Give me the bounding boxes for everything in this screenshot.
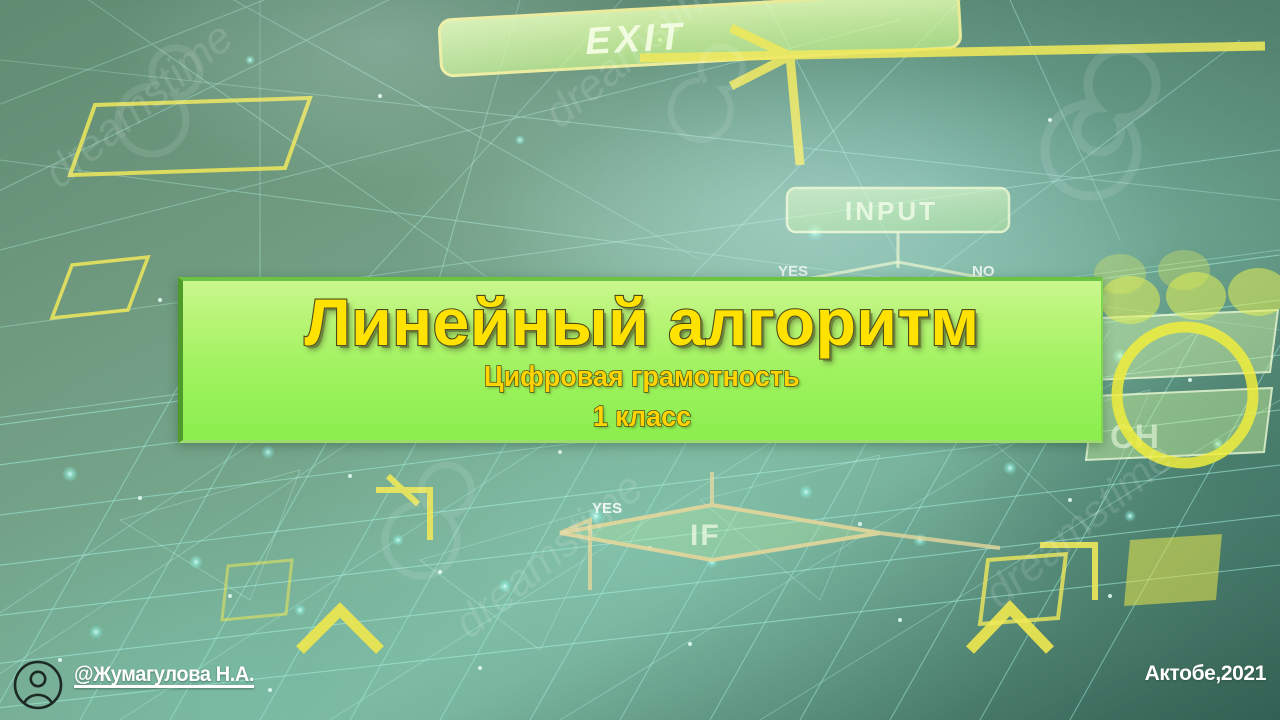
- grade-label: 1 класс: [593, 400, 691, 434]
- page-title: Линейный алгоритм: [304, 291, 979, 354]
- user-avatar-icon: [12, 659, 64, 711]
- author-credit[interactable]: @Жумагулова Н.А.: [74, 663, 254, 687]
- subject-subtitle: Цифровая грамотность: [484, 360, 800, 394]
- title-band: Линейный алгоритм Цифровая грамотность 1…: [178, 277, 1103, 443]
- place-year-label: Актобе,2021: [1145, 662, 1266, 686]
- presentation-slide: EXIT INPUT YES NO: [0, 0, 1280, 720]
